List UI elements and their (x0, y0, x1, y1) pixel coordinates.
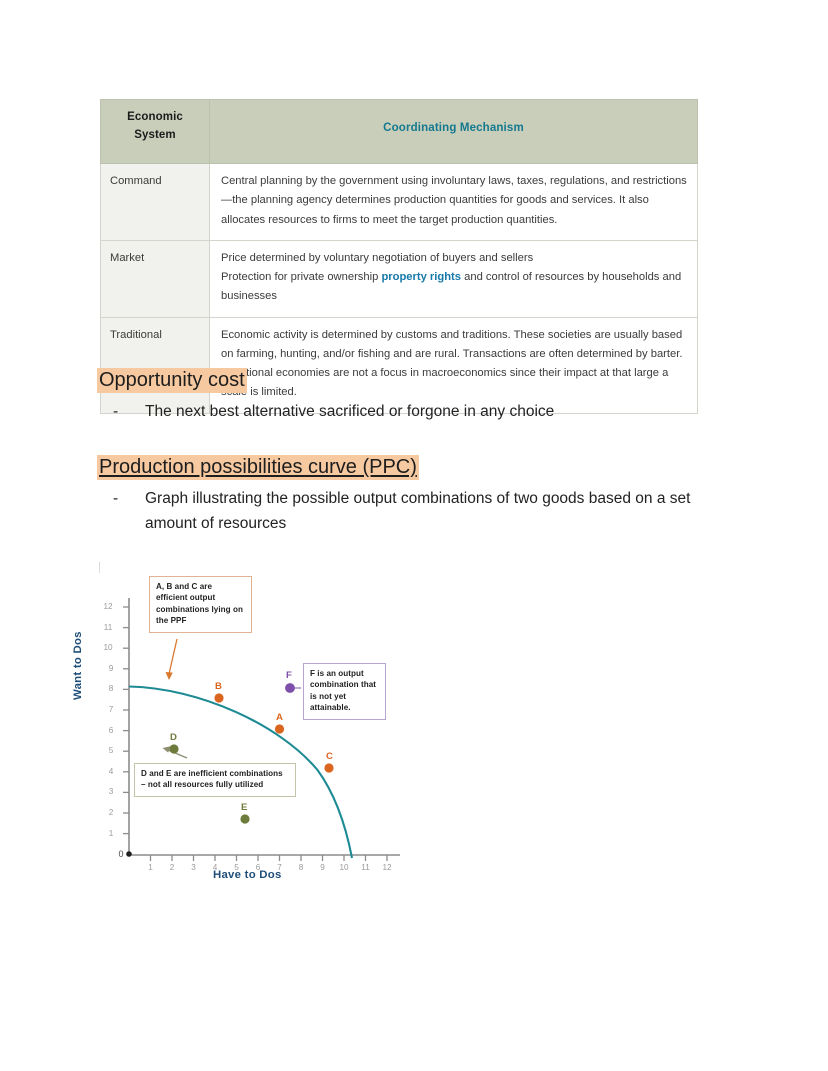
heading-opportunity-cost: Opportunity cost (97, 368, 247, 393)
table-header: Economic System Coordinating Mechanism (101, 100, 698, 164)
data-point-label-F: F (286, 670, 292, 681)
data-point-A (275, 724, 284, 733)
header-line-2: System (134, 129, 176, 141)
bullet-text: The next best alternative sacrificed or … (145, 399, 554, 424)
y-tick-label-3: 3 (104, 787, 118, 796)
y-tick-label-7: 7 (104, 705, 118, 714)
market-line-1: Price determined by voluntary negotiatio… (221, 252, 533, 264)
header-line-1: Economic (127, 111, 183, 123)
data-point-label-C: C (326, 751, 333, 762)
data-point-label-E: E (241, 802, 248, 813)
bullet-marker: - (113, 486, 145, 511)
annotation-box-f: F is an output combination that is not y… (303, 663, 386, 720)
keyword-property-rights: property rights (381, 271, 461, 283)
heading-production-possibilities-curve: Production possibilities curve (PPC) (97, 455, 419, 480)
x-tick-label-3: 3 (187, 863, 201, 872)
heading-opportunity-cost-wrap: Opportunity cost (97, 367, 247, 394)
x-tick-label-11: 11 (359, 863, 373, 872)
y-tick-label-1: 1 (104, 829, 118, 838)
annotation-box-abc: A, B and C are efficient output combinat… (149, 576, 252, 633)
cell-system-command: Command (101, 164, 210, 241)
x-axis-title: Have to Dos (213, 869, 282, 881)
table-header-row: Economic System Coordinating Mechanism (101, 100, 698, 164)
heading-ppc-wrap: Production possibilities curve (PPC) (97, 454, 419, 481)
y-axis-title: Want to Dos (72, 631, 84, 700)
data-point-label-D: D (170, 732, 177, 743)
y-tick-label-6: 6 (104, 726, 118, 735)
annotation-arrows (163, 639, 302, 758)
y-tick-label-12: 12 (101, 602, 115, 611)
column-header-economic-system: Economic System (101, 100, 210, 164)
x-tick-label-12: 12 (380, 863, 394, 872)
table-row: Command Central planning by the governme… (101, 164, 698, 241)
arrow-abc-line (169, 639, 177, 674)
y-tick-label-4: 4 (104, 767, 118, 776)
cell-mechanism-command: Central planning by the government using… (210, 164, 698, 241)
origin-label: 0 (114, 849, 128, 859)
data-point-label-A: A (276, 712, 283, 723)
y-tick-label-11: 11 (101, 623, 115, 632)
y-tick-label-5: 5 (104, 746, 118, 755)
cell-mechanism-market: Price determined by voluntary negotiatio… (210, 240, 698, 317)
data-point-F (285, 683, 295, 693)
arrow-de-head (163, 746, 171, 752)
x-tick-label-9: 9 (316, 863, 330, 872)
bullet-ppc: - Graph illustrating the possible output… (113, 486, 705, 536)
market-line-2-pre: Protection for private ownership (221, 271, 381, 283)
y-tick-label-2: 2 (104, 808, 118, 817)
y-ticks (123, 607, 129, 834)
cell-system-market: Market (101, 240, 210, 317)
x-tick-label-8: 8 (294, 863, 308, 872)
ppc-chart-svg (95, 560, 415, 890)
y-tick-label-8: 8 (104, 684, 118, 693)
data-point-E (240, 814, 249, 823)
data-point-D (169, 744, 178, 753)
data-point-B (214, 693, 223, 702)
y-tick-label-9: 9 (104, 664, 118, 673)
annotation-box-de: D and E are inefficient combinations – n… (134, 763, 296, 797)
table-row: Market Price determined by voluntary neg… (101, 240, 698, 317)
ppc-chart: A B C D E F A, B and C are efficient out… (95, 560, 415, 890)
data-point-C (324, 763, 333, 772)
x-tick-label-10: 10 (337, 863, 351, 872)
x-tick-label-1: 1 (144, 863, 158, 872)
bullet-marker: - (113, 399, 145, 424)
column-header-coordinating-mechanism: Coordinating Mechanism (210, 100, 698, 164)
arrow-abc-head (166, 672, 173, 680)
y-tick-label-10: 10 (101, 643, 115, 652)
bullet-text: Graph illustrating the possible output c… (145, 486, 705, 536)
bullet-opportunity-cost: - The next best alternative sacrificed o… (113, 399, 554, 424)
scan-artifact (99, 562, 100, 573)
data-point-label-B: B (215, 681, 222, 692)
x-tick-label-2: 2 (165, 863, 179, 872)
